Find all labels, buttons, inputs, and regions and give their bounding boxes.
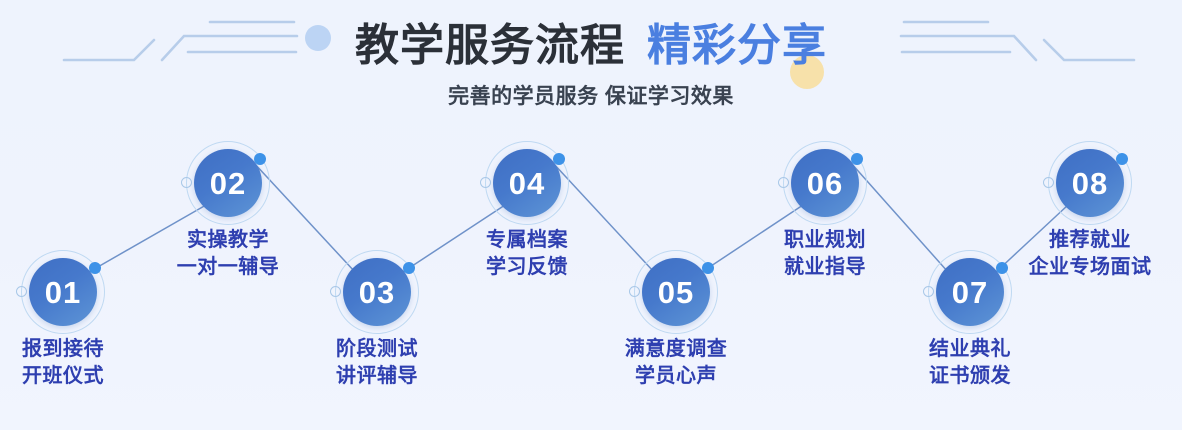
step-label-line1: 结业典礼 (855, 336, 1085, 363)
step-label-line2: 学员心声 (561, 363, 791, 390)
step-number: 05 (658, 277, 694, 308)
ring-hollow-dot-icon (16, 286, 27, 297)
step-label-02: 实操教学一对一辅导 (113, 227, 343, 281)
ring-solid-dot-icon (553, 153, 565, 165)
step-label-05: 满意度调查学员心声 (561, 336, 791, 390)
step-number: 04 (509, 168, 545, 199)
step-label-line1: 专属档案 (412, 227, 642, 254)
step-label-line1: 报到接待 (0, 336, 178, 363)
ring-solid-dot-icon (1116, 153, 1128, 165)
step-label-08: 推荐就业企业专场面试 (975, 227, 1182, 281)
step-label-03: 阶段测试讲评辅导 (262, 336, 492, 390)
step-label-04: 专属档案学习反馈 (412, 227, 642, 281)
step-label-line2: 证书颁发 (855, 363, 1085, 390)
step-label-line2: 企业专场面试 (975, 254, 1182, 281)
step-circle-06[interactable]: 06 (791, 149, 859, 217)
step-label-line1: 职业规划 (710, 227, 940, 254)
ring-hollow-dot-icon (1043, 177, 1054, 188)
step-circle-02[interactable]: 02 (194, 149, 262, 217)
ring-solid-dot-icon (851, 153, 863, 165)
step-circle-08[interactable]: 08 (1056, 149, 1124, 217)
ring-hollow-dot-icon (923, 286, 934, 297)
step-circle-01[interactable]: 01 (29, 258, 97, 326)
title-blue-blob-icon (305, 25, 331, 51)
step-label-line1: 推荐就业 (975, 227, 1182, 254)
step-label-line1: 阶段测试 (262, 336, 492, 363)
step-label-line2: 就业指导 (710, 254, 940, 281)
step-label-01: 报到接待开班仪式 (0, 336, 178, 390)
step-label-line2: 开班仪式 (0, 363, 178, 390)
ring-hollow-dot-icon (778, 177, 789, 188)
step-circle-04[interactable]: 04 (493, 149, 561, 217)
step-label-line2: 学习反馈 (412, 254, 642, 281)
step-circle-05[interactable]: 05 (642, 258, 710, 326)
page-title-accent: 精彩分享 (647, 22, 827, 70)
step-circle-03[interactable]: 03 (343, 258, 411, 326)
ring-hollow-dot-icon (629, 286, 640, 297)
step-label-06: 职业规划就业指导 (710, 227, 940, 281)
step-label-line2: 一对一辅导 (113, 254, 343, 281)
step-number: 06 (807, 168, 843, 199)
ring-hollow-dot-icon (480, 177, 491, 188)
ring-hollow-dot-icon (330, 286, 341, 297)
step-label-line1: 满意度调查 (561, 336, 791, 363)
step-label-line2: 讲评辅导 (262, 363, 492, 390)
infographic-canvas: 教学服务流程 精彩分享 完善的学员服务 保证学习效果 01报到接待开班仪式02实… (0, 0, 1182, 430)
step-number: 03 (359, 277, 395, 308)
ring-solid-dot-icon (254, 153, 266, 165)
step-label-07: 结业典礼证书颁发 (855, 336, 1085, 390)
step-number: 01 (45, 277, 81, 308)
step-number: 08 (1072, 168, 1108, 199)
page-title: 教学服务流程 (355, 22, 625, 70)
ring-solid-dot-icon (89, 262, 101, 274)
step-number: 02 (210, 168, 246, 199)
step-label-line1: 实操教学 (113, 227, 343, 254)
step-number: 07 (952, 277, 988, 308)
ring-hollow-dot-icon (181, 177, 192, 188)
